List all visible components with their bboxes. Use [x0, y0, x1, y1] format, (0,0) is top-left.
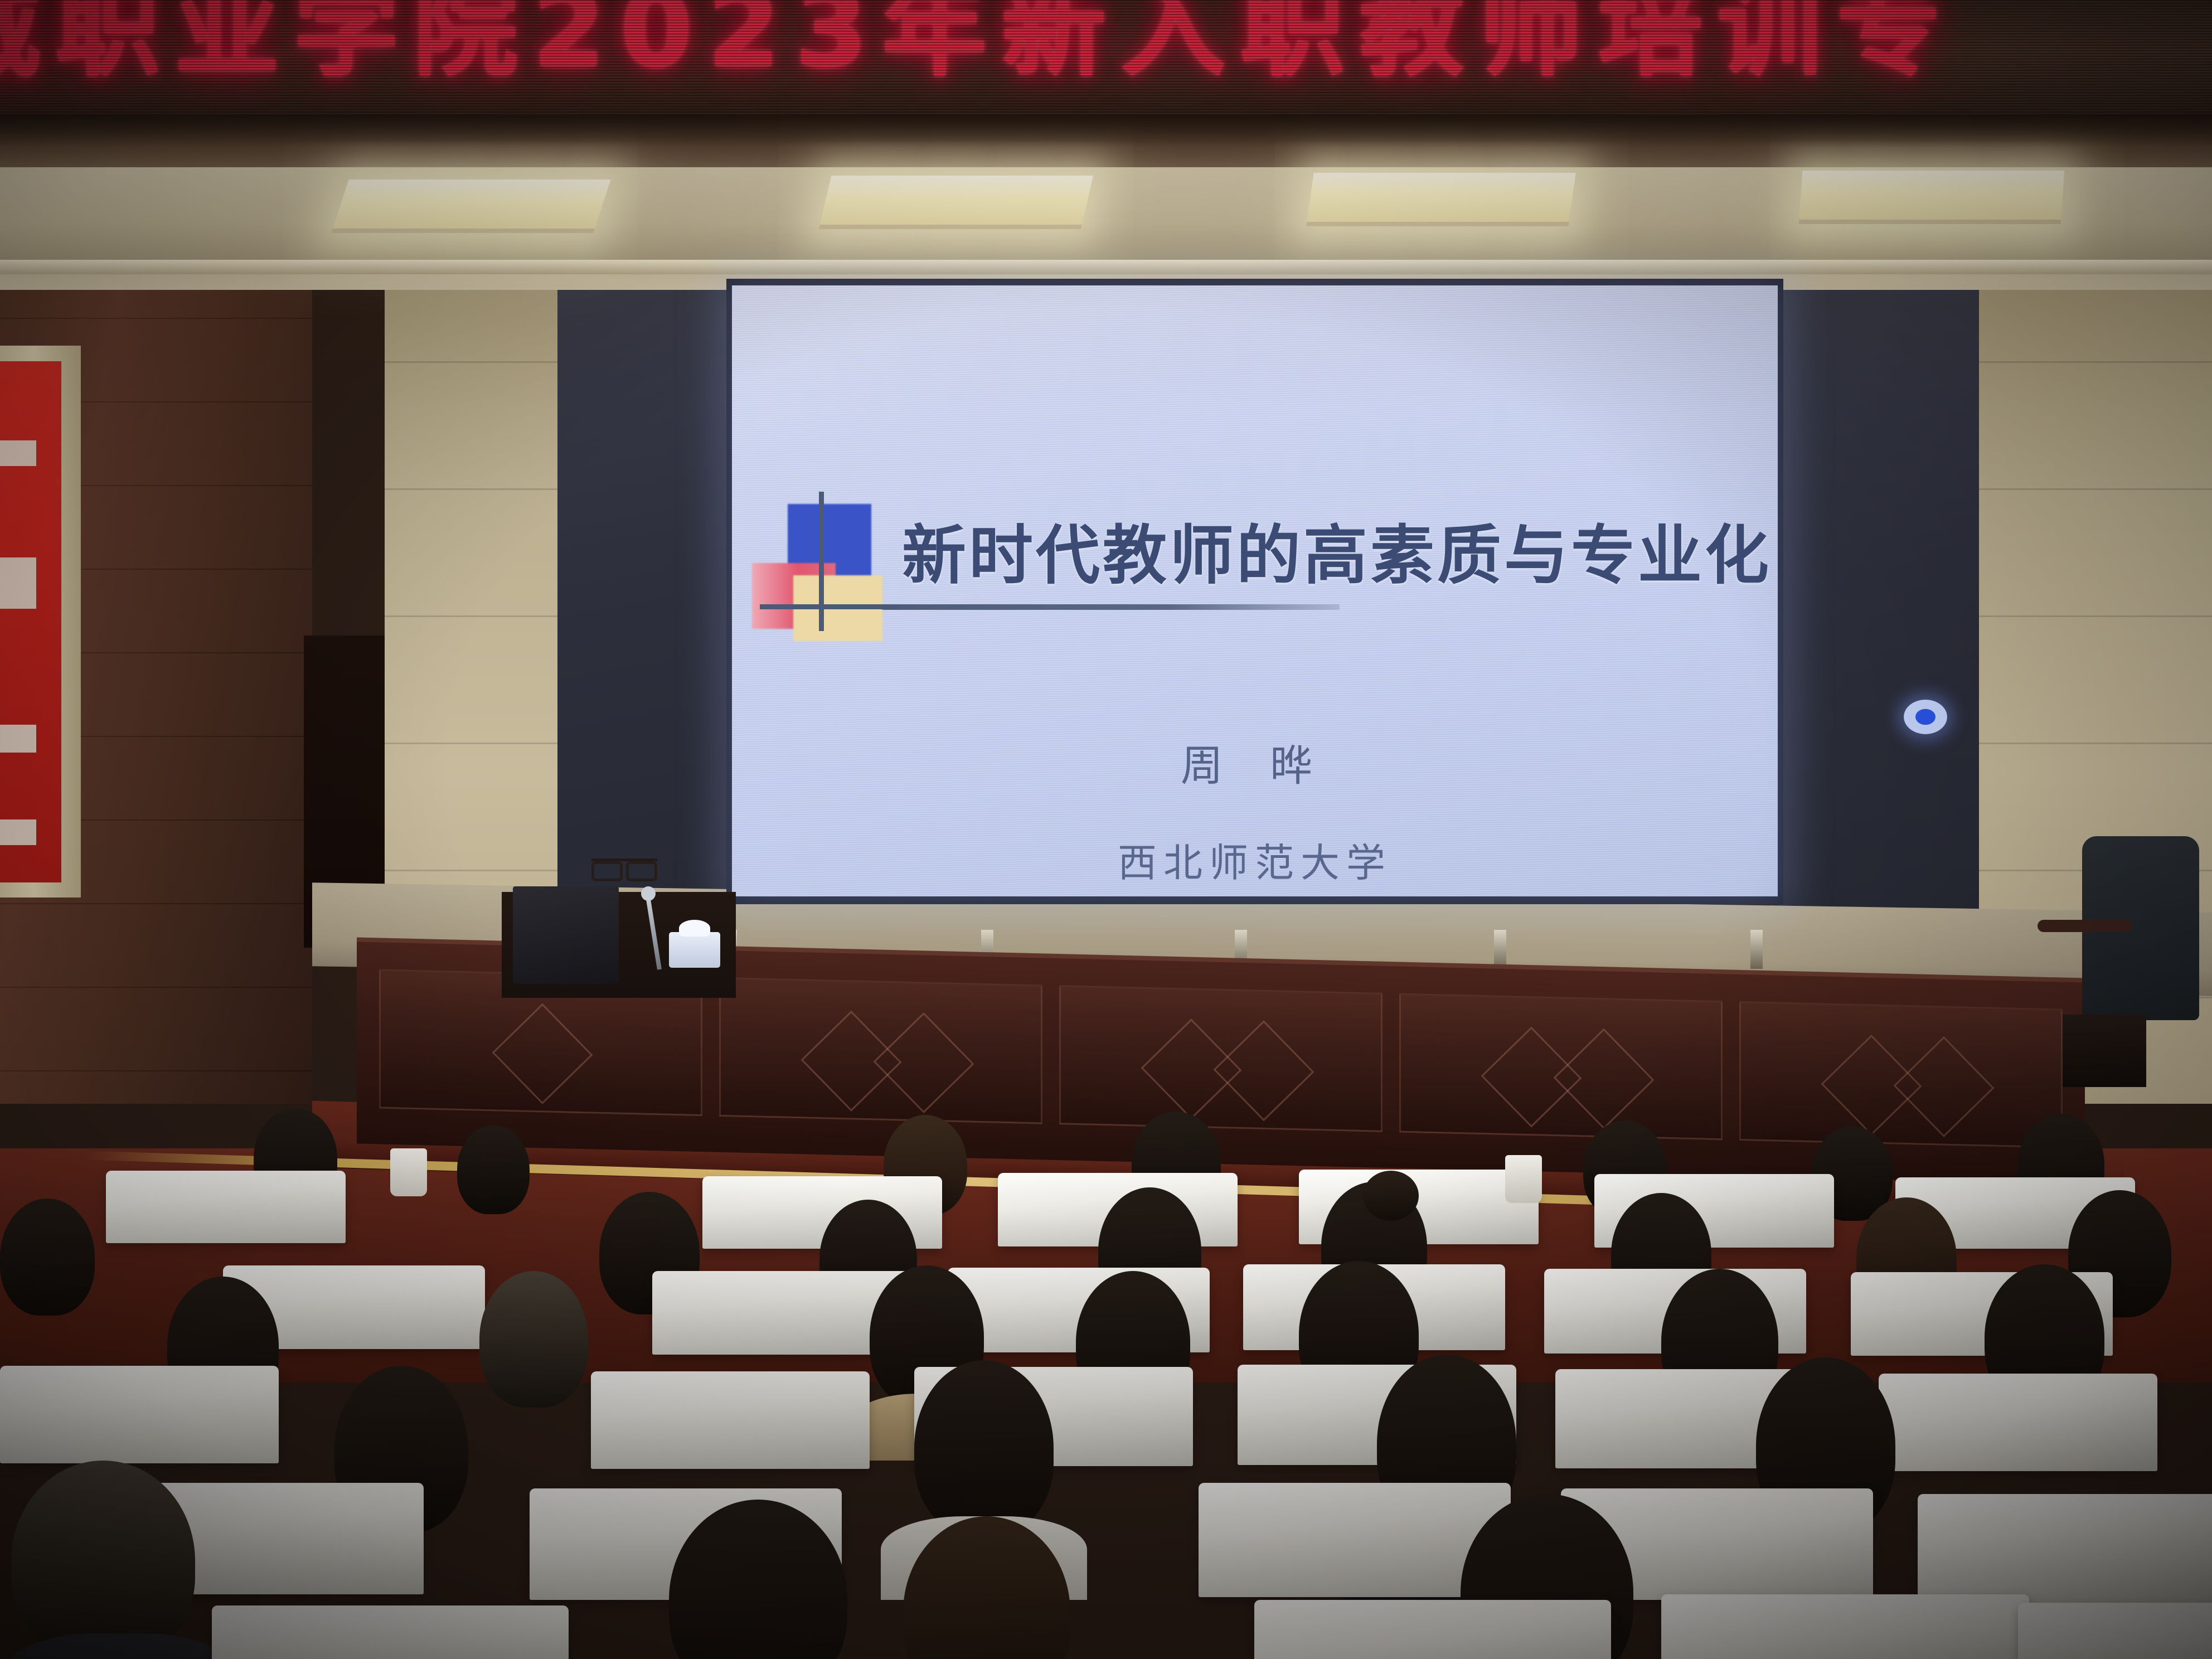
slide-author: 周 晔: [732, 731, 1778, 793]
wall-scroll-glyph: [0, 557, 36, 609]
ceiling-light-panel: [331, 180, 610, 233]
slide-mark-horizontal-rule: [760, 604, 900, 609]
ceiling-light-panel: [819, 176, 1093, 229]
stage-panel: [719, 977, 1042, 1124]
wall-scroll-red: [0, 361, 61, 882]
glasses-icon: [591, 858, 657, 873]
audience-head: [914, 1360, 1054, 1536]
laptop: [513, 886, 619, 984]
audience-head: [479, 1271, 588, 1408]
chair-cover: [106, 1171, 346, 1243]
office-chair-base: [2063, 1015, 2146, 1087]
audience-hair-bun: [1363, 1171, 1419, 1221]
ceiling-trim: [0, 260, 2212, 274]
chair-cover: [591, 1371, 870, 1469]
paper-cup: [390, 1148, 427, 1196]
tissue-box: [669, 932, 720, 968]
paper-cup: [1505, 1155, 1542, 1203]
wall-scroll-glyph: [0, 440, 36, 466]
blue-led-indicator-icon: [1904, 700, 1947, 734]
stage-panel-diamond: [492, 1003, 593, 1104]
slide-affiliation: 西北师范大学: [732, 832, 1778, 888]
tissue-sheet: [679, 920, 710, 937]
slide-decorative-mark: [748, 492, 898, 631]
banner-shadow: [0, 114, 2212, 148]
slide-mark-vertical-rule: [819, 492, 824, 631]
chair-cover: [2018, 1603, 2212, 1659]
chair-cover: [212, 1605, 569, 1659]
ceiling-light-panel: [1799, 171, 2065, 224]
wall-scroll-glyph: [0, 819, 36, 845]
lecture-hall-scene: 威职业学院2023年新入职教师培训专 新时代教师的高素质与专业化 周 晔 西北师…: [0, 0, 2212, 1659]
audience-head: [457, 1125, 530, 1214]
projection-screen: 新时代教师的高素质与专业化 周 晔 西北师范大学: [732, 285, 1778, 896]
audience-area: [0, 1104, 2212, 1659]
stage-panel-diamond: [873, 1012, 974, 1113]
chair-cover: [1879, 1374, 2157, 1471]
led-banner: 威职业学院2023年新入职教师培训专: [0, 0, 2212, 114]
ceiling-light-panel: [1306, 173, 1575, 226]
led-banner-text: 威职业学院2023年新入职教师培训专: [0, 0, 1956, 83]
band-post: [1750, 930, 1763, 969]
audience-head: [11, 1461, 195, 1659]
audience-head: [0, 1199, 95, 1316]
wall-scroll-glyph: [0, 725, 36, 753]
office-chair-arm: [2038, 920, 2132, 932]
microphone-icon: [641, 886, 656, 901]
chair-cover: [0, 1366, 279, 1463]
chair-cover: [1918, 1494, 2212, 1603]
chair-cover: [1254, 1600, 1611, 1659]
band-post: [1494, 930, 1506, 969]
slide-title: 新时代教师的高素质与专业化: [902, 504, 1716, 596]
chair-cover: [1661, 1594, 2029, 1659]
